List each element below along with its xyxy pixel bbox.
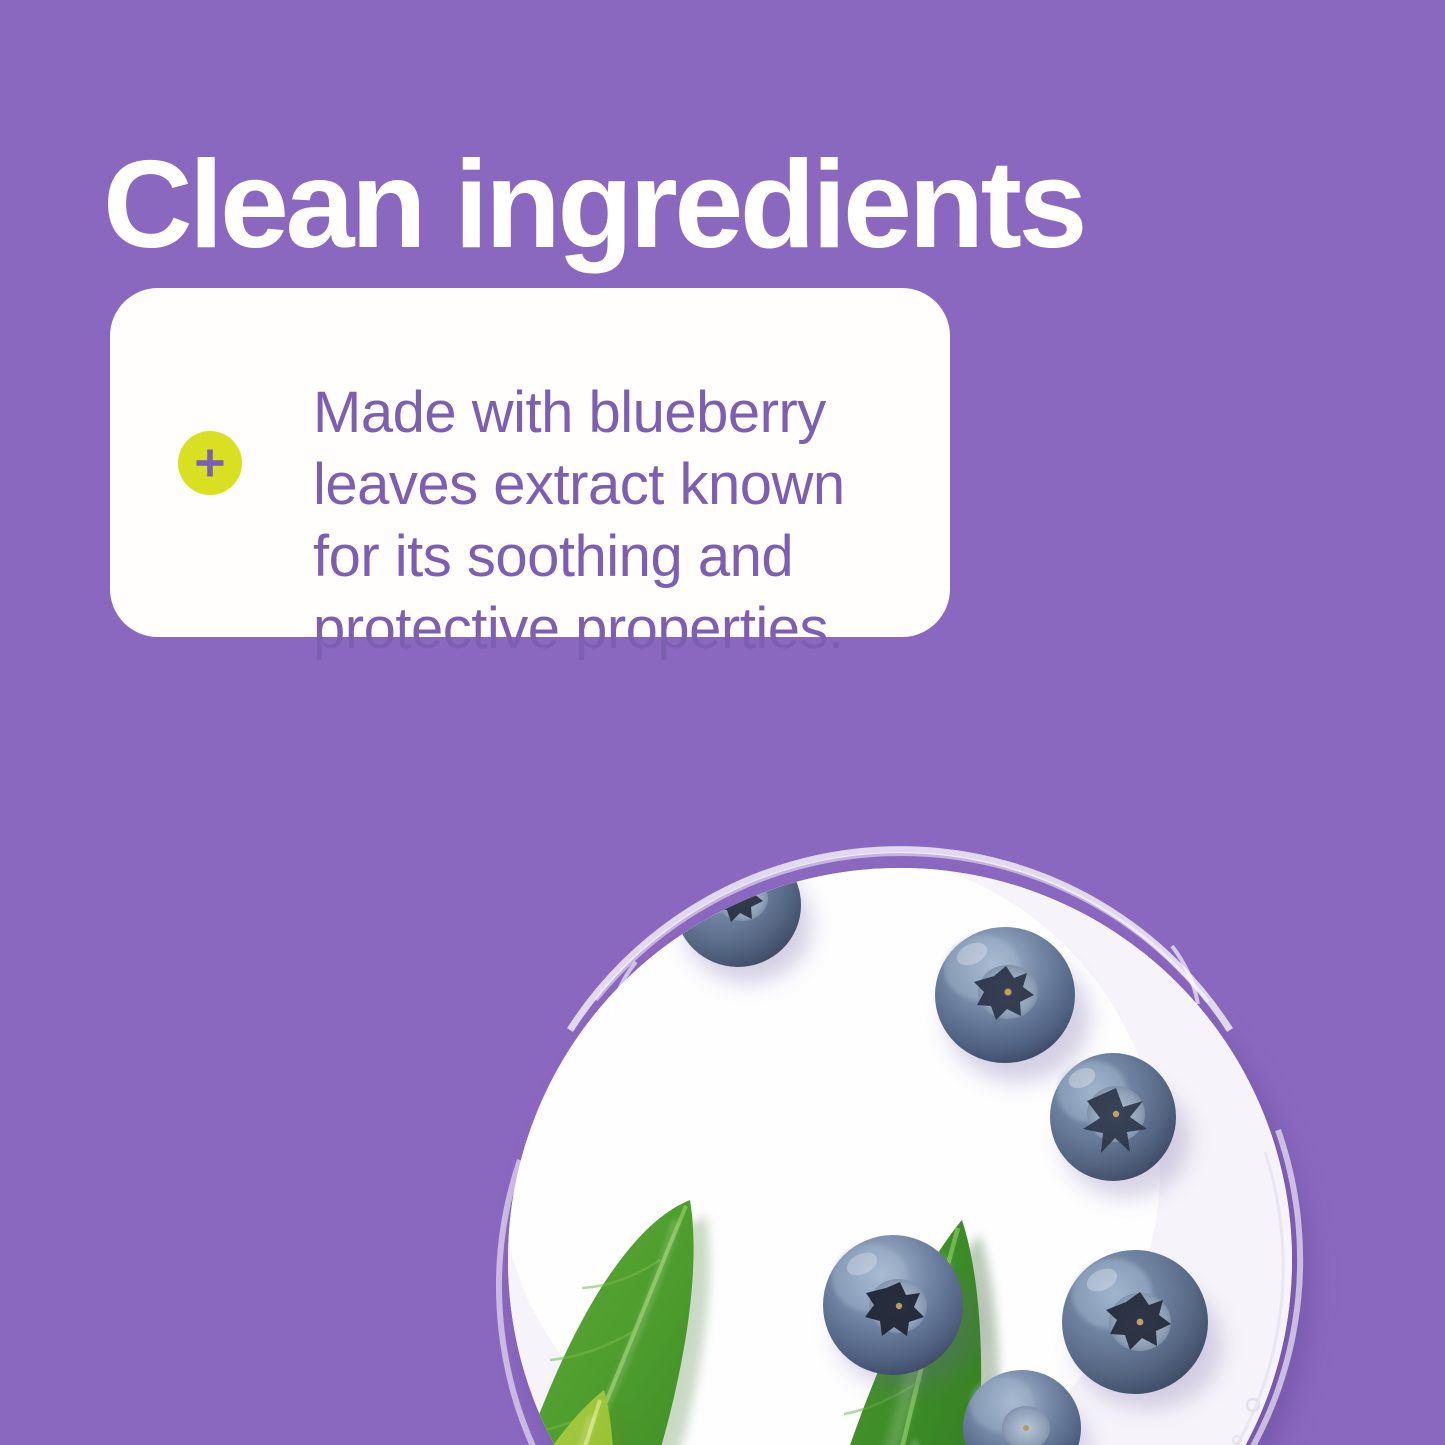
page-title: Clean ingredients [103,143,1303,267]
benefit-card-text: Made with blueberry leaves extract known… [313,377,912,665]
ingredient-photo [0,700,1445,1445]
plus-icon [178,431,242,495]
benefit-card: Made with blueberry leaves extract known… [110,288,950,637]
promo-canvas: Clean ingredients Made with blueberry le… [0,0,1445,1445]
